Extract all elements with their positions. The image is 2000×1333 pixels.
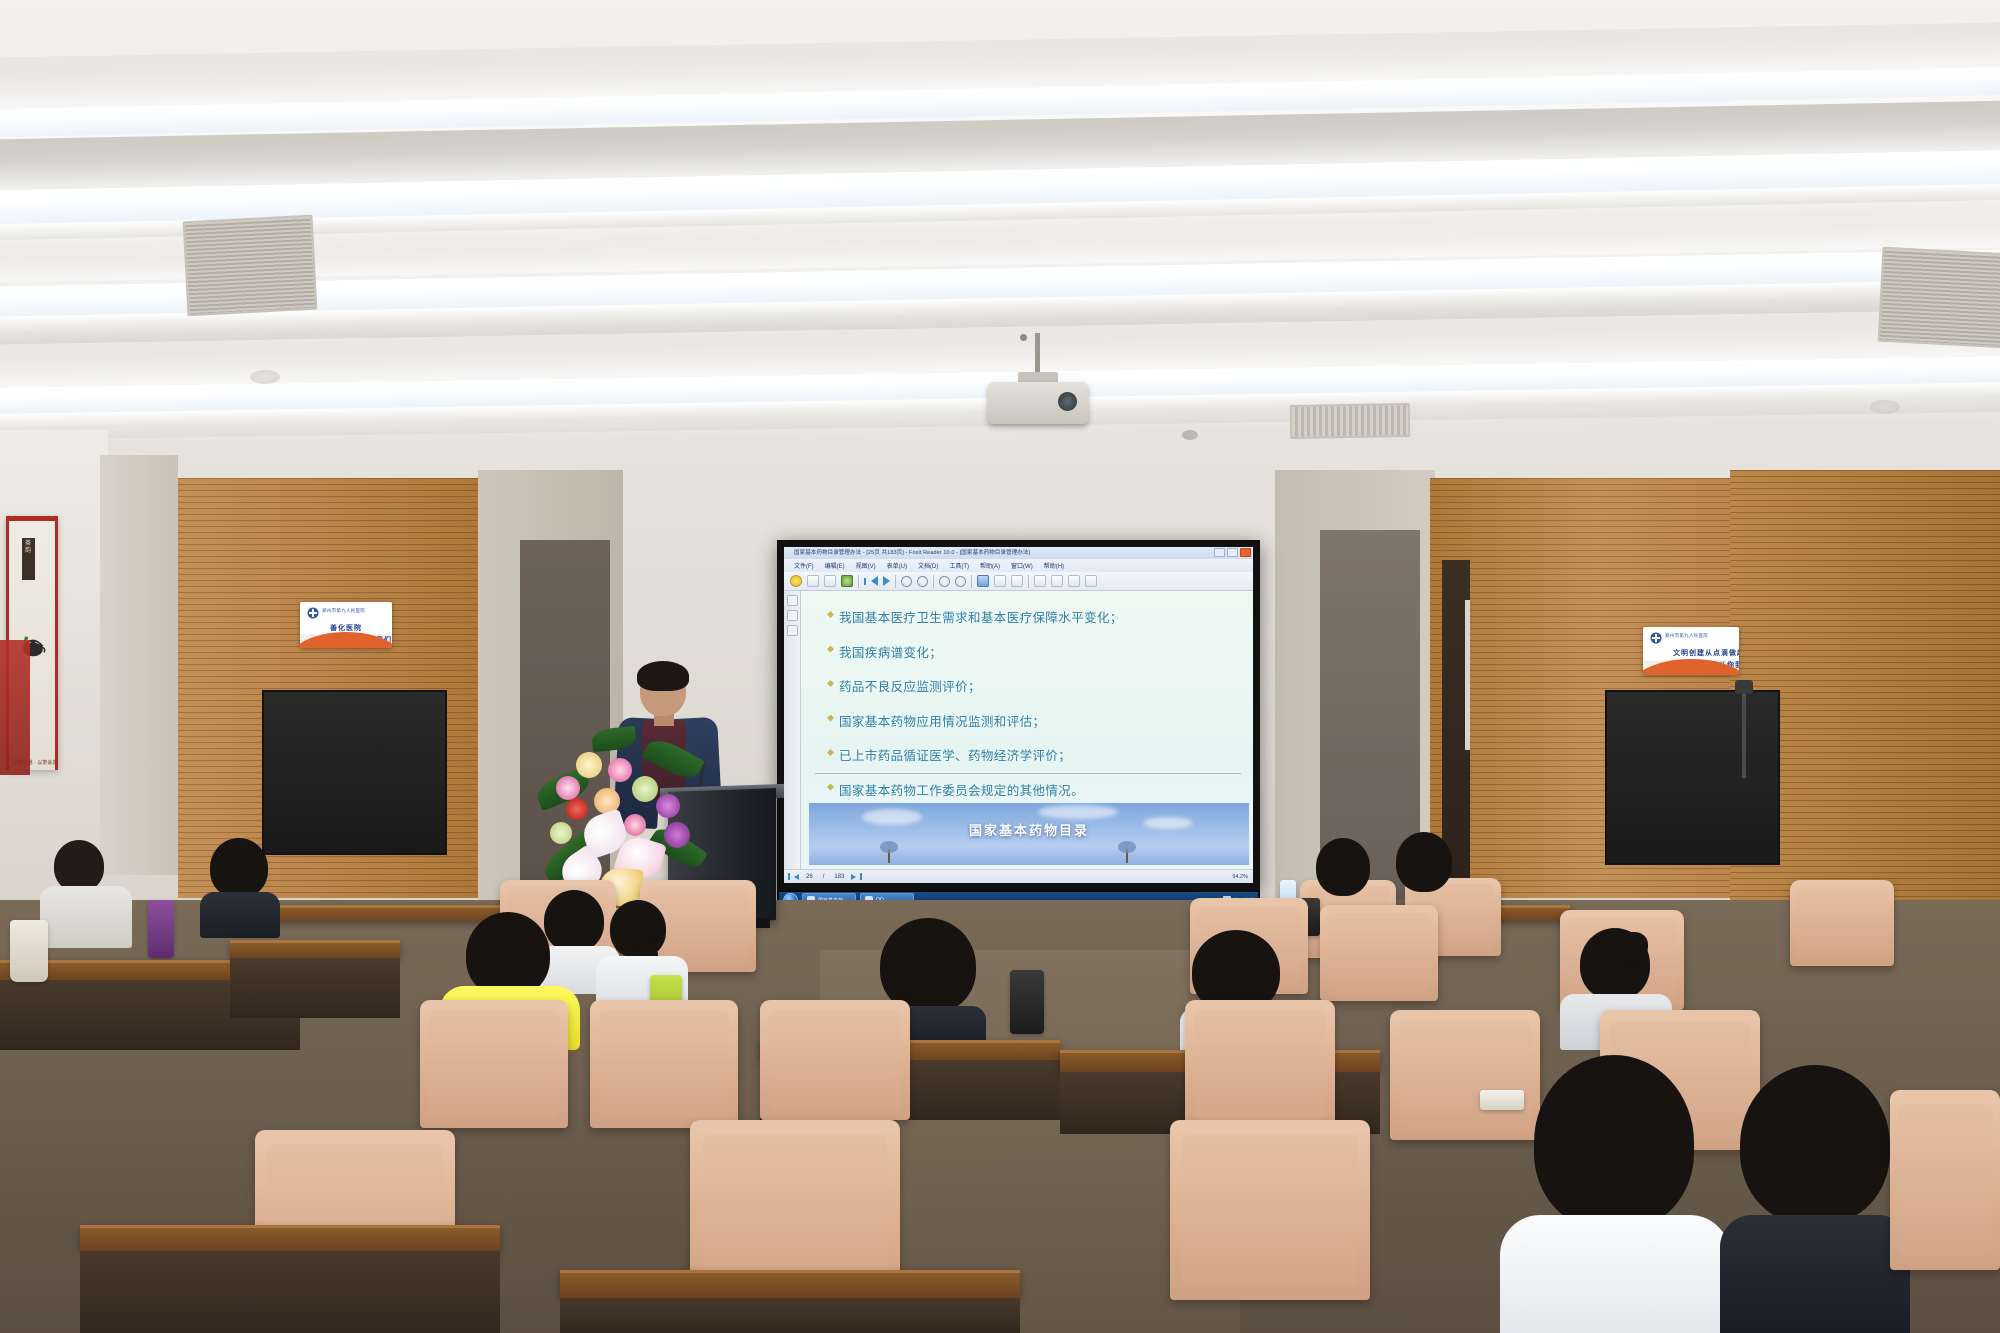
rose-green xyxy=(632,776,658,802)
menu-item-window[interactable]: 窗口(W) xyxy=(1011,561,1033,570)
diamond-bullet-icon xyxy=(827,680,834,687)
tree-icon xyxy=(879,837,899,863)
rose-pink xyxy=(608,758,632,782)
audience-member xyxy=(200,838,280,930)
person-head xyxy=(210,838,268,898)
desk-front-panel xyxy=(560,1298,1020,1333)
menu-item-help[interactable]: 帮助(H) xyxy=(1044,561,1064,570)
tree-icon xyxy=(1117,837,1137,863)
rose-cream xyxy=(576,752,602,778)
desk-front-row-center xyxy=(560,1270,1020,1298)
presenter-hair xyxy=(637,661,689,691)
projector-mount-rod xyxy=(1035,333,1040,375)
door-handle-icon[interactable] xyxy=(1465,600,1470,750)
rose-red xyxy=(566,798,588,820)
toolbar-separator xyxy=(895,575,896,588)
leaf xyxy=(591,726,637,752)
microphone-stand xyxy=(1742,690,1746,778)
audience-member xyxy=(40,840,132,950)
person-body-white-shirt xyxy=(1500,1215,1730,1333)
first-page-icon[interactable] xyxy=(864,578,866,585)
wall-sign-org: 郑州市第九人民医院 xyxy=(322,608,365,614)
rose-pink xyxy=(624,814,646,836)
slide-bullet-text: 我国基本医疗卫生需求和基本医疗保障水平变化； xyxy=(839,607,1123,626)
bookmarks-icon[interactable] xyxy=(787,595,798,606)
desk-front-panel xyxy=(80,1251,500,1333)
slide-banner-title: 国家基本药物目录 xyxy=(809,820,1249,839)
slide-bullet: 药品不良反应监测评价； xyxy=(827,676,1243,695)
highlight-icon[interactable] xyxy=(790,575,802,587)
menu-item-form[interactable]: 表单(U) xyxy=(887,561,907,570)
menu-item-document[interactable]: 文档(D) xyxy=(918,561,938,570)
first-page-icon[interactable] xyxy=(788,873,790,880)
slide-bullet-text: 已上市药品循证医学、药物经济学评价； xyxy=(839,745,1071,764)
next-page-icon[interactable] xyxy=(883,576,890,586)
pdf-status-bar[interactable]: 26 / 183 94.2% xyxy=(784,869,1253,883)
ceiling-sensor-icon xyxy=(1182,430,1198,440)
last-page-icon[interactable] xyxy=(860,873,862,880)
rotate-right-icon[interactable] xyxy=(917,576,928,587)
slide-bullet-text: 国家基本药物应用情况监测和评估； xyxy=(839,711,1045,730)
pdf-page-content: 我国基本医疗卫生需求和基本医疗保障水平变化； 我国疾病谱变化； 药品不良反应监测… xyxy=(801,591,1253,869)
chair xyxy=(1790,880,1894,966)
zoom-level[interactable]: 94.2% xyxy=(1232,874,1253,880)
pdf-window-title: 国家基本药物目录管理办法 - [25页 共183页] - Foxit Reade… xyxy=(784,547,1253,559)
slide-divider xyxy=(815,773,1241,774)
menu-item-file[interactable]: 文件(F) xyxy=(794,561,814,570)
paper-stack xyxy=(1480,1090,1524,1110)
pdf-sidebar[interactable] xyxy=(784,591,801,869)
person-head xyxy=(1740,1065,1890,1225)
chair xyxy=(760,1000,910,1120)
chair xyxy=(420,1000,568,1128)
previous-page-icon[interactable] xyxy=(871,576,878,586)
person-head xyxy=(1534,1055,1694,1230)
fit-width-icon[interactable] xyxy=(1011,575,1023,587)
wall-poster-left-lower xyxy=(0,640,30,775)
page-current: 26 xyxy=(806,874,813,880)
next-page-icon[interactable] xyxy=(851,874,856,880)
pdf-menu-bar[interactable]: 文件(F) 编辑(E) 视图(V) 表单(U) 文档(D) 工具(T) 帮助(A… xyxy=(784,559,1253,572)
menu-item-advanced[interactable]: 帮助(A) xyxy=(980,561,1000,570)
magnifier-icon[interactable] xyxy=(977,575,989,587)
slide-banner: 国家基本药物目录 xyxy=(809,803,1249,865)
zoom-in-icon[interactable] xyxy=(955,576,966,587)
save-icon[interactable] xyxy=(807,575,819,587)
toolbar-separator xyxy=(1028,575,1029,588)
thermos-purple xyxy=(148,900,174,958)
projector-lens-icon xyxy=(1058,392,1077,411)
page-total: 183 xyxy=(834,874,844,880)
person-head xyxy=(1316,838,1370,896)
left-pillar xyxy=(100,455,178,875)
diamond-bullet-icon xyxy=(827,611,834,618)
desk-row-left-3 xyxy=(230,940,400,958)
slide-bullet-text: 我国疾病谱变化； xyxy=(839,642,942,661)
conference-room-scene: 郑州市第九人民医院 善化医院 就是善化我们的家园 郑州市第九人民医院 文明创建从… xyxy=(0,0,2000,1333)
audience-member-foreground xyxy=(1720,1065,1910,1333)
thermos-black xyxy=(1010,970,1044,1034)
audience-member-foreground xyxy=(1500,1055,1730,1333)
thumbnails-icon[interactable] xyxy=(787,610,798,621)
maximize-icon[interactable] xyxy=(1227,548,1238,557)
pdf-toolbar[interactable] xyxy=(784,572,1253,591)
orchid-purple xyxy=(656,794,680,818)
microphone-icon xyxy=(1735,680,1753,694)
slide-bullet-text: 药品不良反应监测评价； xyxy=(839,676,981,695)
slide-bullet-list: 我国基本医疗卫生需求和基本医疗保障水平变化； 我国疾病谱变化； 药品不良反应监测… xyxy=(827,607,1243,814)
print-icon[interactable] xyxy=(824,575,836,587)
orchid-purple xyxy=(664,822,690,848)
typewriter-icon[interactable] xyxy=(1068,575,1080,587)
toolbar-separator xyxy=(933,575,934,588)
hospital-logo-icon xyxy=(1650,632,1662,644)
paper-cup xyxy=(10,920,48,982)
chair xyxy=(1890,1090,2000,1270)
person-head xyxy=(54,840,104,892)
desk-front-row-left xyxy=(80,1225,500,1251)
rotate-left-icon[interactable] xyxy=(901,576,912,587)
rose-green xyxy=(550,822,572,844)
hospital-logo-icon xyxy=(307,607,319,619)
page-separator: / xyxy=(823,874,825,880)
select-tool-icon[interactable] xyxy=(1034,575,1046,587)
projection-screen: 国家基本药物目录管理办法 - [25页 共183页] - Foxit Reade… xyxy=(777,540,1260,890)
hvac-vent-icon xyxy=(1290,403,1411,439)
wall-sign-line1: 文明创建从点滴做起 xyxy=(1673,648,1739,658)
snapshot-icon[interactable] xyxy=(1051,575,1063,587)
diamond-bullet-icon xyxy=(827,646,834,653)
ceiling-speaker-icon xyxy=(250,370,280,384)
wall-sign-left: 郑州市第九人民医院 善化医院 就是善化我们的家园 xyxy=(300,602,392,648)
audience-member xyxy=(1310,838,1380,908)
toolbar-separator xyxy=(858,575,859,588)
chair xyxy=(1185,1000,1335,1130)
menu-item-view[interactable]: 视图(V) xyxy=(856,561,876,570)
wall-sign-org: 郑州市第九人民医院 xyxy=(1665,633,1708,639)
poster-top-bar xyxy=(9,516,55,521)
fit-page-icon[interactable] xyxy=(994,575,1006,587)
previous-page-icon[interactable] xyxy=(794,874,799,880)
slide-bullet: 我国基本医疗卫生需求和基本医疗保障水平变化； xyxy=(827,607,1243,626)
person-body xyxy=(1720,1215,1910,1333)
rose-pink xyxy=(556,776,580,800)
ceiling-speaker-icon xyxy=(1870,400,1900,414)
slide-bullet: 我国疾病谱变化； xyxy=(827,642,1243,661)
poster-seal-text: 茶 韵 xyxy=(22,538,35,580)
cloud-shape xyxy=(1038,805,1118,819)
wall-board-left xyxy=(262,690,447,855)
chair xyxy=(1170,1120,1370,1300)
slide-bullet-text: 国家基本药物工作委员会规定的其他情况。 xyxy=(839,780,1084,799)
slide-bullet: 国家基本药物应用情况监测和评估； xyxy=(827,711,1243,730)
slide-bullet: 已上市药品循证医学、药物经济学评价； xyxy=(827,745,1243,764)
projector xyxy=(988,382,1088,424)
person-head xyxy=(1396,832,1452,892)
chair xyxy=(1320,905,1438,1001)
minimize-icon[interactable] xyxy=(1214,548,1225,557)
close-icon[interactable] xyxy=(1240,548,1251,557)
diamond-bullet-icon xyxy=(827,749,834,756)
diamond-bullet-icon xyxy=(827,784,834,791)
person-body xyxy=(200,892,280,938)
projection-surface: 国家基本药物目录管理办法 - [25页 共183页] - Foxit Reade… xyxy=(784,547,1253,883)
wall-sign-right: 郑州市第九人民医院 文明创建从点滴做起 构建和谐从你我开始 xyxy=(1643,627,1739,675)
toolbar-separator xyxy=(971,575,972,588)
sprinkler-icon xyxy=(1020,334,1027,341)
diamond-bullet-icon xyxy=(827,715,834,722)
desk-front-panel xyxy=(230,958,400,1018)
hvac-vent-icon xyxy=(183,215,318,317)
attachments-icon[interactable] xyxy=(787,625,798,636)
chair xyxy=(590,1000,738,1128)
wall-board-right xyxy=(1605,690,1780,865)
hair-bun xyxy=(1614,932,1648,962)
slide-bullet: 国家基本药物工作委员会规定的其他情况。 xyxy=(827,780,1243,799)
person-body xyxy=(40,886,132,948)
zoom-out-icon[interactable] xyxy=(939,576,950,587)
hvac-vent-icon xyxy=(1878,247,2000,349)
email-icon[interactable] xyxy=(841,575,853,587)
menu-item-edit[interactable]: 编辑(E) xyxy=(825,561,845,570)
menu-item-tools[interactable]: 工具(T) xyxy=(949,561,969,570)
window-controls[interactable] xyxy=(1214,548,1251,557)
audience-member xyxy=(1390,832,1460,906)
find-icon[interactable] xyxy=(1085,575,1097,587)
